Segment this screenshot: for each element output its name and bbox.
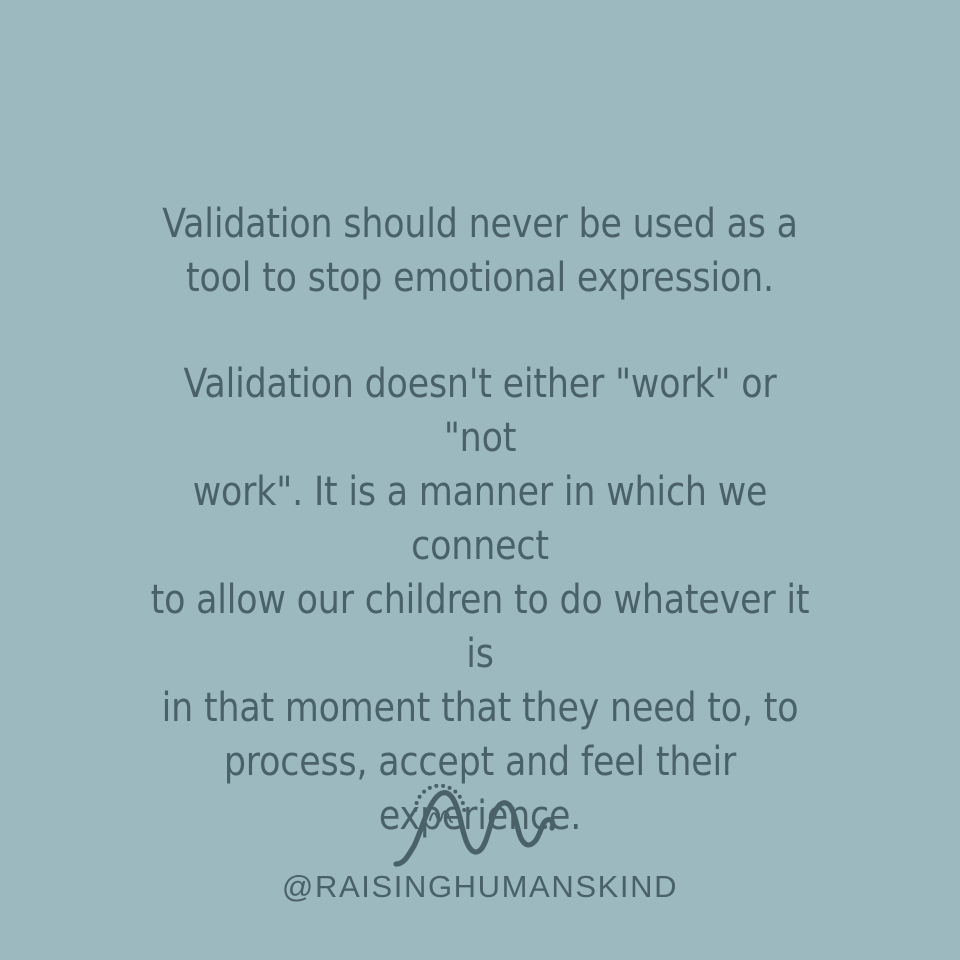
logo-inner-squiggle <box>430 811 452 822</box>
paragraph-spacer <box>90 304 870 356</box>
brand-footer: @RAISINGHUMANSKIND <box>0 772 960 904</box>
quote-paragraph-2: Validation doesn't either "work" or "not… <box>145 356 816 842</box>
wave-squiggle-with-dotted-arc-logo <box>390 772 570 868</box>
quote-card: Validation should never be used as a too… <box>0 0 960 960</box>
quote-paragraph-1: Validation should never be used as a too… <box>145 196 816 304</box>
logo-wave-path <box>396 793 553 864</box>
quote-text-block: Validation should never be used as a too… <box>90 196 870 842</box>
brand-handle: @RAISINGHUMANSKIND <box>282 870 678 904</box>
